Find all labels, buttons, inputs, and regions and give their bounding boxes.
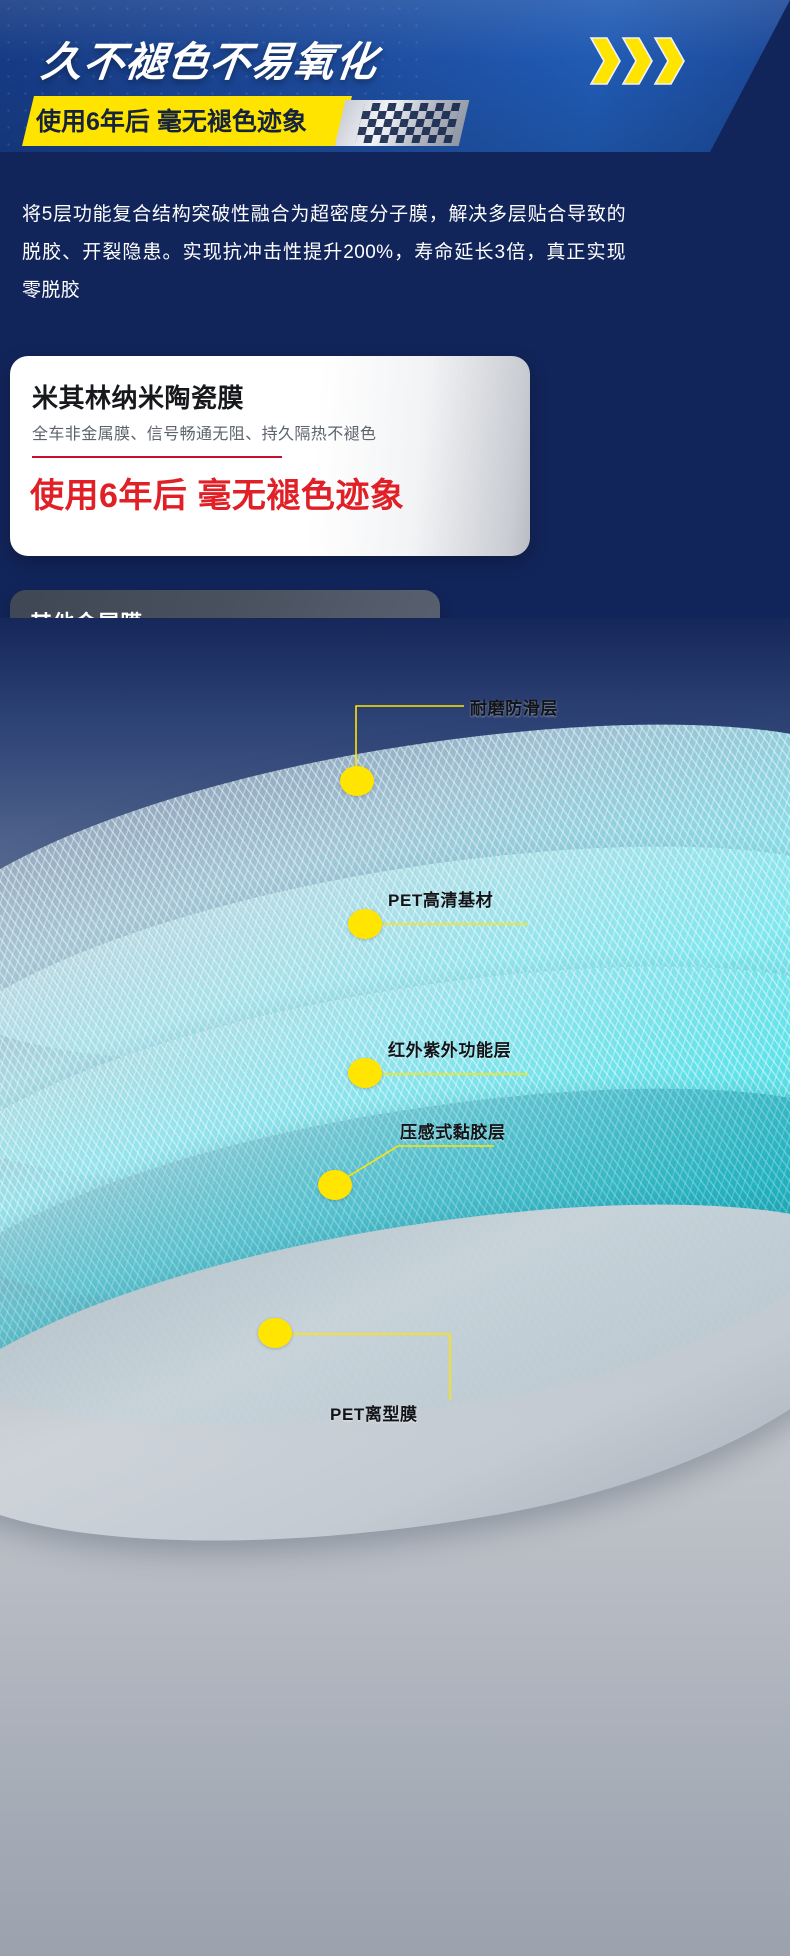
layer-marker-5[interactable]	[258, 1318, 292, 1348]
ribbon-row: 使用6年后 毫无褪色迹象	[0, 96, 790, 152]
product-detail-page: 久不褪色不易氧化 使用6年后 毫无褪色迹象 将5层功能复合结构突破性融合为超密度…	[0, 0, 790, 1956]
chevron-right-icon	[653, 36, 689, 86]
product-card-subtitle: 全车非金属膜、信号畅通无阻、持久隔热不褪色	[32, 420, 376, 444]
checkered-flag-icon	[335, 100, 470, 146]
layer-label-4: 压感式黏胶层	[400, 1118, 506, 1143]
layer-marker-1[interactable]	[340, 766, 374, 796]
layer-label-1: 耐磨防滑层	[470, 694, 558, 719]
layer-structure-diagram: 耐磨防滑层 PET高清基材 红外紫外功能层 压感式黏胶层	[0, 618, 790, 1956]
layer-label-3: 红外紫外功能层	[388, 1036, 511, 1061]
ribbon-label: 使用6年后 毫无褪色迹象	[36, 102, 307, 138]
intro-paragraph: 将5层功能复合结构突破性融合为超密度分子膜，解决多层贴合导致的脱胶、开裂隐患。实…	[22, 196, 626, 310]
page-title: 久不褪色不易氧化	[38, 28, 381, 88]
layer-label-5: PET离型膜	[330, 1400, 418, 1425]
chevron-group	[589, 36, 685, 86]
chevron-right-icon	[621, 36, 657, 86]
product-card-divider	[32, 456, 282, 458]
product-card-headline: 使用6年后 毫无褪色迹象	[30, 468, 404, 517]
product-card: 米其林纳米陶瓷膜 全车非金属膜、信号畅通无阻、持久隔热不褪色 使用6年后 毫无褪…	[10, 356, 530, 556]
product-card-title: 米其林纳米陶瓷膜	[32, 378, 244, 415]
layer-label-2: PET高清基材	[388, 886, 493, 911]
layer-marker-3[interactable]	[348, 1058, 382, 1088]
checker-pattern	[355, 103, 460, 143]
chevron-right-icon	[589, 36, 625, 86]
layer-marker-4[interactable]	[318, 1170, 352, 1200]
layer-marker-2[interactable]	[348, 909, 382, 939]
